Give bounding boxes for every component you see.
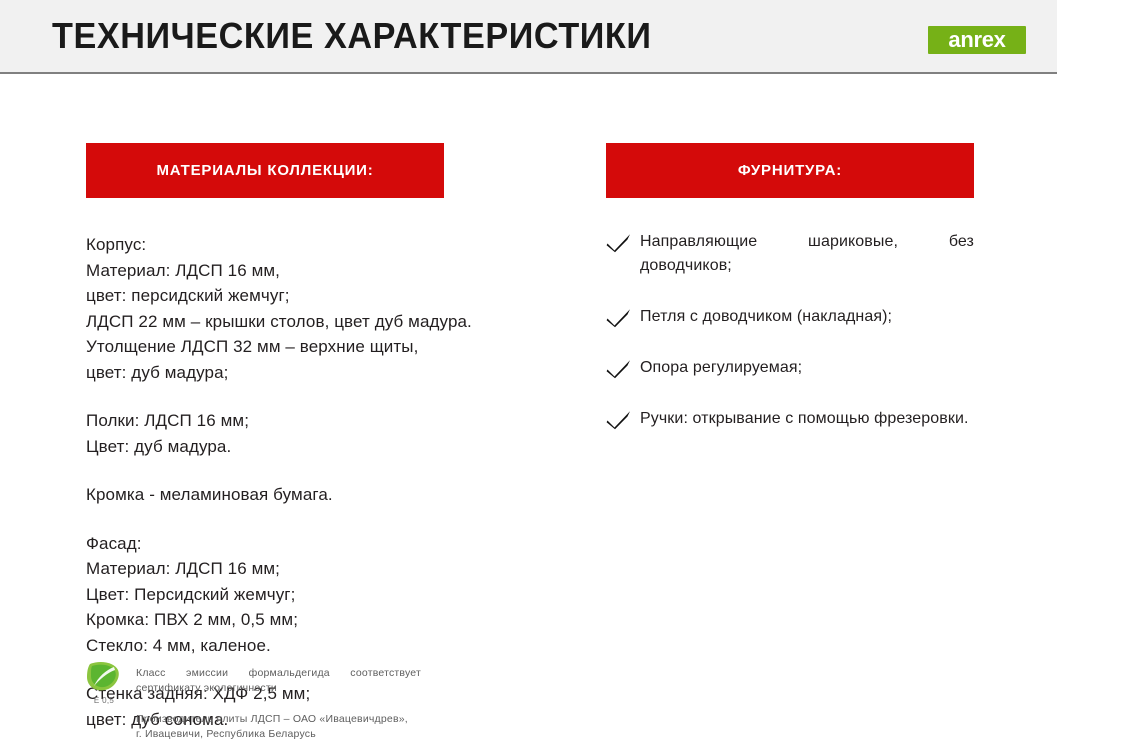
leaf-icon [80, 658, 128, 698]
list-item: Направляющие шариковые, без доводчиков; [606, 230, 974, 278]
materials-spec-groups: Корпус: Материал: ЛДСП 16 мм, цвет: перс… [86, 232, 556, 732]
hardware-section-banner: ФУРНИТУРА: [606, 143, 974, 198]
check-icon [606, 230, 640, 253]
spec-line: Полки: ЛДСП 16 мм; [86, 408, 556, 434]
spec-line: Материал: ЛДСП 16 мм, [86, 258, 556, 284]
eco-badge-label: E 0,5 [80, 696, 128, 705]
list-item: Опора регулируемая; [606, 356, 974, 380]
spec-line: Фасад: [86, 531, 556, 557]
spec-line: Корпус: [86, 232, 556, 258]
spec-group: Корпус: Материал: ЛДСП 16 мм, цвет: перс… [86, 232, 556, 385]
spec-line: Цвет: Персидский жемчуг; [86, 582, 556, 608]
manufacturer-note-line-2: г. Ивацевичи, Республика Беларусь [136, 727, 421, 742]
spec-group: Полки: ЛДСП 16 мм; Цвет: дуб мадура. [86, 408, 556, 459]
check-icon [606, 305, 640, 328]
list-item: Ручки: открывание с помощью фрезеровки. [606, 407, 974, 431]
hardware-section-title: ФУРНИТУРА: [738, 162, 842, 179]
list-item-label: Ручки: открывание с помощью фрезеровки. [640, 407, 974, 431]
eco-badge: E 0,5 [80, 658, 132, 714]
materials-section-title: МАТЕРИАЛЫ КОЛЛЕКЦИИ: [156, 162, 373, 179]
spec-line: цвет: персидский жемчуг; [86, 283, 556, 309]
list-item: Петля с доводчиком (накладная); [606, 305, 974, 329]
spec-line: ЛДСП 22 мм – крышки столов, цвет дуб мад… [86, 309, 556, 335]
brand-logo: anrex [928, 26, 1026, 54]
page-title: ТЕХНИЧЕСКИЕ ХАРАКТЕРИСТИКИ [52, 14, 652, 58]
list-item-label: Петля с доводчиком (накладная); [640, 305, 974, 329]
check-icon [606, 356, 640, 379]
eco-emission-note: Класс эмиссии формальдегида соответствуе… [136, 666, 421, 696]
spec-line: Кромка - меламиновая бумага. [86, 482, 556, 508]
spec-group: Кромка - меламиновая бумага. [86, 482, 556, 508]
spec-line: Утолщение ЛДСП 32 мм – верхние щиты, [86, 334, 556, 360]
hardware-column: ФУРНИТУРА: Направляющие шариковые, без д… [606, 143, 974, 431]
list-item-label: Опора регулируемая; [640, 356, 974, 380]
spec-line: Стекло: 4 мм, каленое. [86, 633, 556, 659]
spec-group: Фасад: Материал: ЛДСП 16 мм; Цвет: Перси… [86, 531, 556, 659]
eco-certification-block: E 0,5 Класс эмиссии формальдегида соотве… [80, 658, 500, 742]
eco-text-group: Класс эмиссии формальдегида соответствуе… [132, 658, 500, 742]
check-icon [606, 407, 640, 430]
spec-line: цвет: дуб мадура; [86, 360, 556, 386]
hardware-check-list: Направляющие шариковые, без доводчиков; … [606, 230, 974, 431]
spec-line: Кромка: ПВХ 2 мм, 0,5 мм; [86, 607, 556, 633]
manufacturer-note-line-1: Производитель плиты ЛДСП – ОАО «Ивацевич… [136, 712, 421, 727]
materials-section-banner: МАТЕРИАЛЫ КОЛЛЕКЦИИ: [86, 143, 444, 198]
spec-line: Цвет: дуб мадура. [86, 434, 556, 460]
spec-line: Материал: ЛДСП 16 мм; [86, 556, 556, 582]
materials-column: МАТЕРИАЛЫ КОЛЛЕКЦИИ: Корпус: Материал: Л… [86, 143, 556, 732]
list-item-label: Направляющие шариковые, без доводчиков; [640, 230, 974, 278]
brand-logo-text: anrex [948, 29, 1005, 51]
